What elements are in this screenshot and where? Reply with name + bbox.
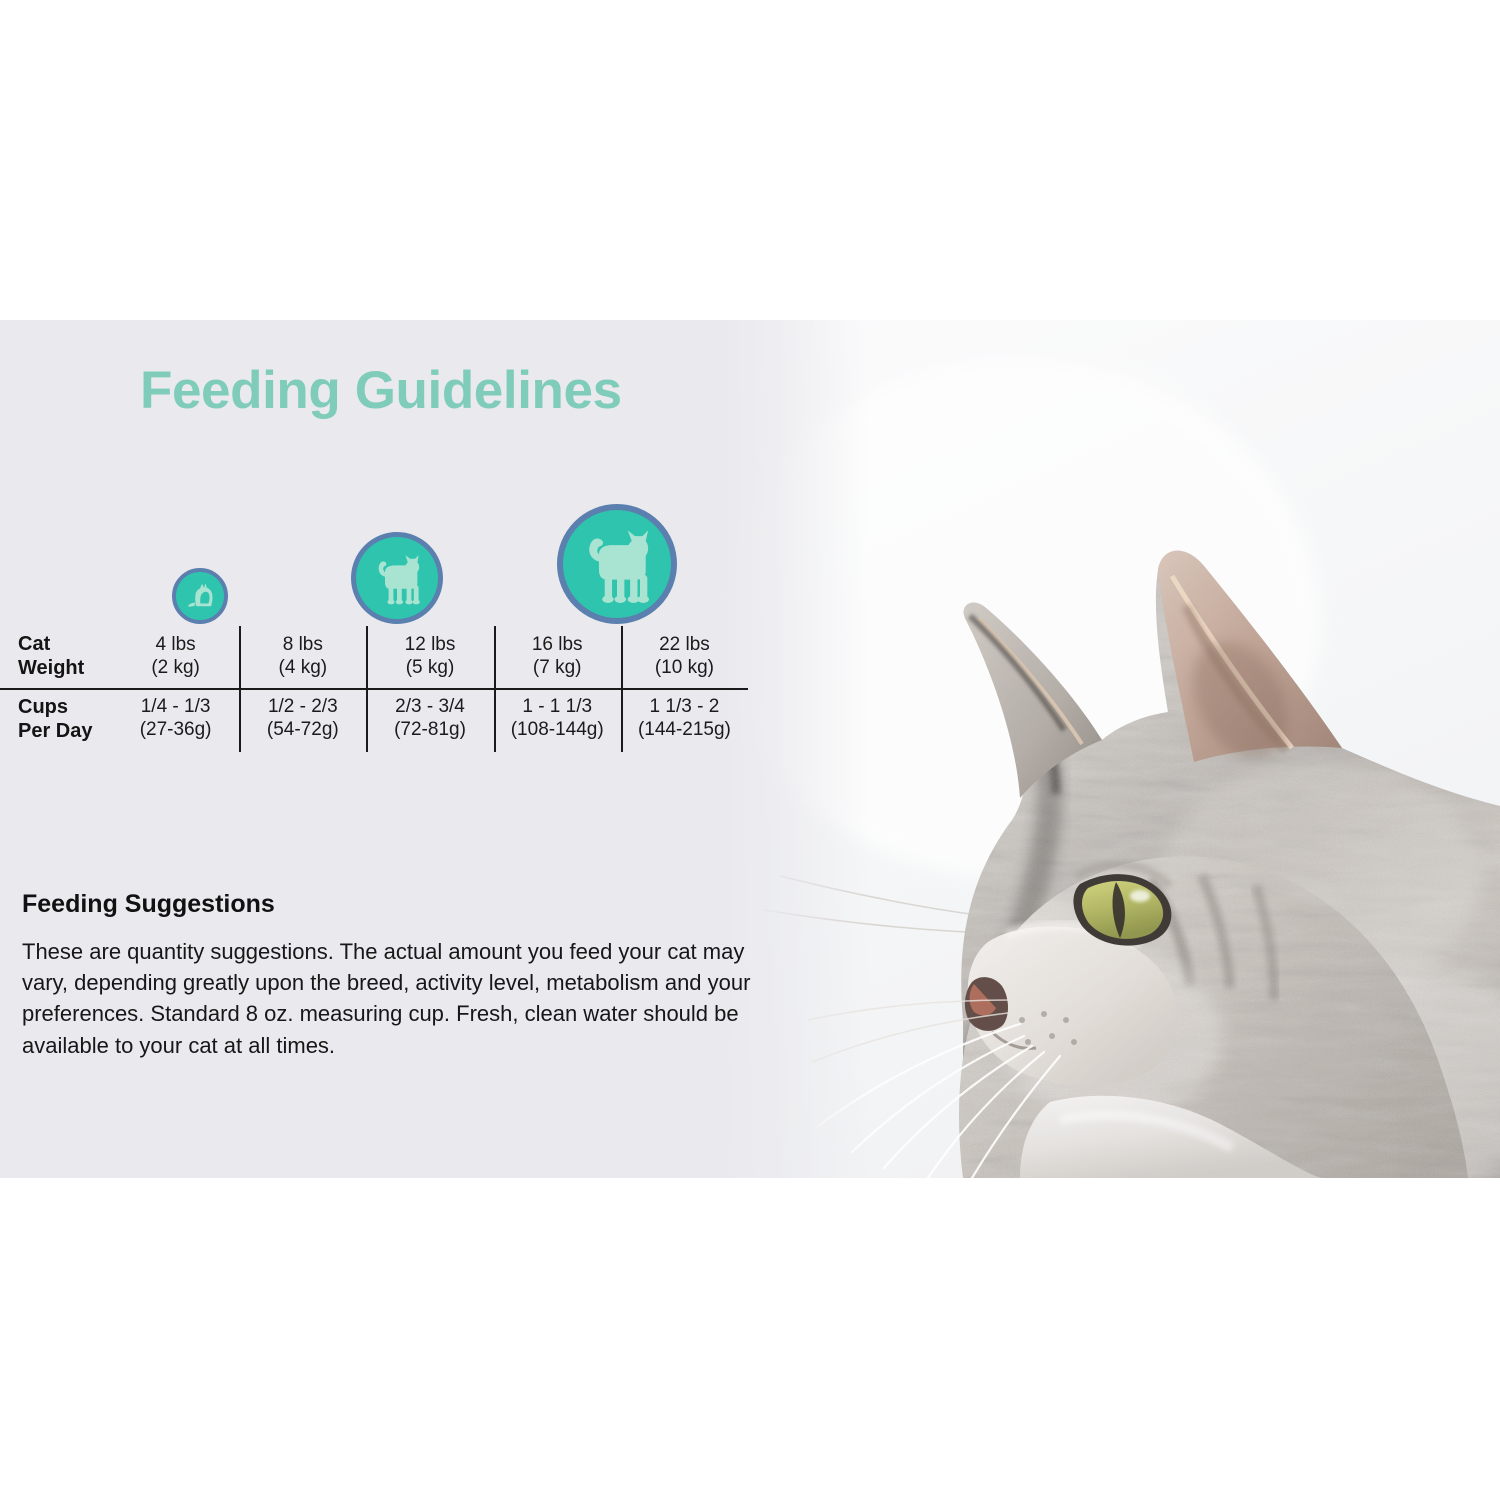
cups-cell-2: 1/2 - 2/3 (54-72g) <box>239 688 366 752</box>
weight-cell-5: 22 lbs (10 kg) <box>621 626 748 688</box>
suggestions-body: These are quantity suggestions. The actu… <box>22 936 782 1061</box>
weight-cell-3: 12 lbs (5 kg) <box>366 626 493 688</box>
feeding-suggestions: Feeding Suggestions These are quantity s… <box>22 890 782 1061</box>
table-row: Cups Per Day 1/4 - 1/3 (27-36g) 1/2 - 2/… <box>0 688 748 752</box>
infographic-stage: Feeding Guidelines <box>0 0 1500 1500</box>
weight-cell-4: 16 lbs (7 kg) <box>494 626 621 688</box>
page-title: Feeding Guidelines <box>140 360 622 421</box>
cat-photo <box>720 320 1500 1178</box>
cups-cell-1: 1/4 - 1/3 (27-36g) <box>112 688 239 752</box>
feeding-table: Cat Weight 4 lbs (2 kg) 8 lbs (4 kg) 12 … <box>0 626 748 752</box>
row-label-cat-weight: Cat Weight <box>0 626 112 688</box>
row-label-cups-per-day: Cups Per Day <box>0 688 112 752</box>
feeding-guidelines-panel: Feeding Guidelines <box>0 320 1500 1178</box>
weight-cell-2: 8 lbs (4 kg) <box>239 626 366 688</box>
table-row: Cat Weight 4 lbs (2 kg) 8 lbs (4 kg) 12 … <box>0 626 748 688</box>
cat-size-icons <box>0 492 760 624</box>
weight-cell-1: 4 lbs (2 kg) <box>112 626 239 688</box>
cat-icon-large <box>557 504 677 624</box>
cat-icon-small <box>172 568 228 624</box>
guidelines-content: Feeding Guidelines <box>0 320 800 1178</box>
cups-cell-5: 1 1/3 - 2 (144-215g) <box>621 688 748 752</box>
cat-icon-medium <box>351 532 443 624</box>
cups-cell-4: 1 - 1 1/3 (108-144g) <box>494 688 621 752</box>
cups-cell-3: 2/3 - 3/4 (72-81g) <box>366 688 493 752</box>
suggestions-heading: Feeding Suggestions <box>22 890 782 919</box>
